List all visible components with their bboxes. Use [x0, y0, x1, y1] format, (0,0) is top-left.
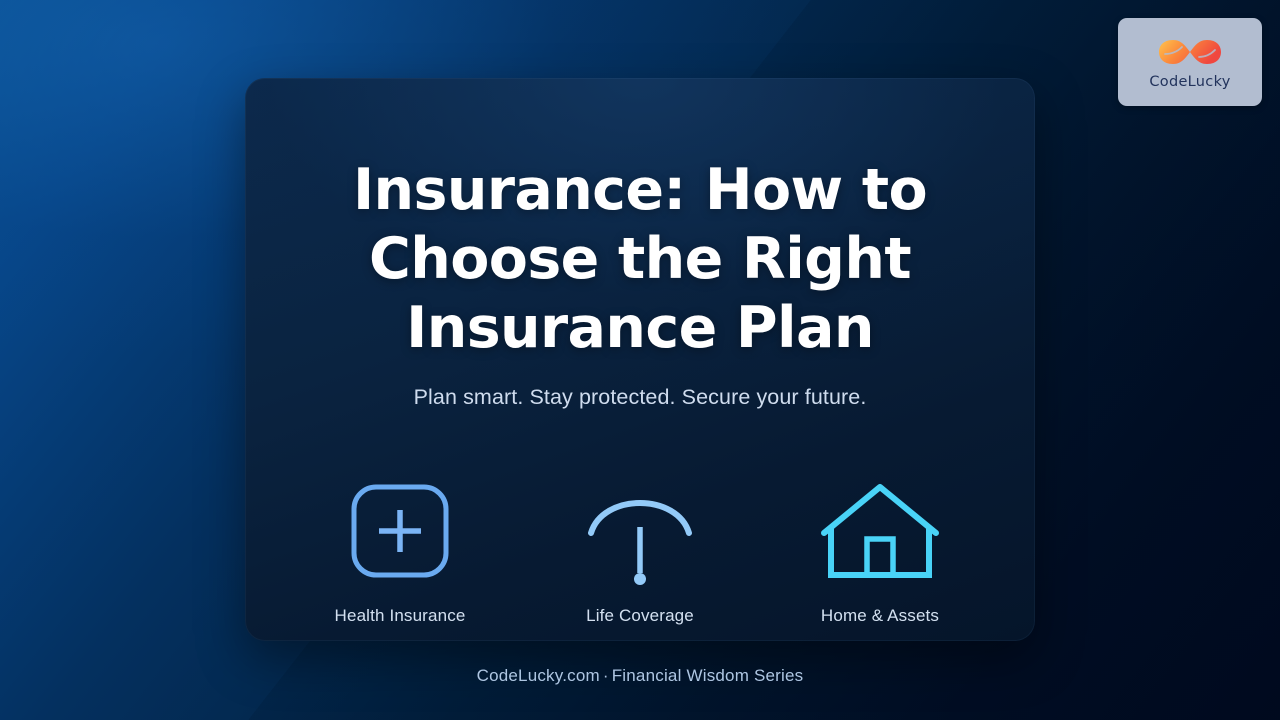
footer-series: Financial Wisdom Series — [612, 666, 804, 685]
subtitle: Plan smart. Stay protected. Secure your … — [414, 363, 867, 410]
feature-label-life: Life Coverage — [586, 606, 694, 626]
feature-label-home: Home & Assets — [821, 606, 939, 626]
page-title: Insurance: How to Choose the Right Insur… — [270, 78, 1010, 363]
feature-item-home[interactable]: Home & Assets — [760, 472, 1000, 626]
slide-canvas: CodeLucky Insurance: How to Choose the R… — [0, 0, 1280, 720]
feature-label-health: Health Insurance — [335, 606, 466, 626]
umbrella-icon — [581, 472, 699, 590]
infinity-logo-icon — [1155, 32, 1225, 72]
health-plus-badge-icon — [344, 472, 456, 590]
feature-item-health[interactable]: Health Insurance — [280, 472, 520, 626]
footer: CodeLucky.com·Financial Wisdom Series — [0, 666, 1280, 686]
feature-row: Health Insurance Life Coverage — [245, 472, 1035, 626]
house-icon — [818, 472, 942, 590]
brand-name: CodeLucky — [1149, 74, 1230, 90]
footer-site: CodeLucky.com — [477, 666, 600, 685]
brand-badge[interactable]: CodeLucky — [1118, 18, 1262, 106]
content-card: Insurance: How to Choose the Right Insur… — [245, 78, 1035, 641]
feature-item-life[interactable]: Life Coverage — [520, 472, 760, 626]
footer-separator: · — [600, 666, 612, 685]
